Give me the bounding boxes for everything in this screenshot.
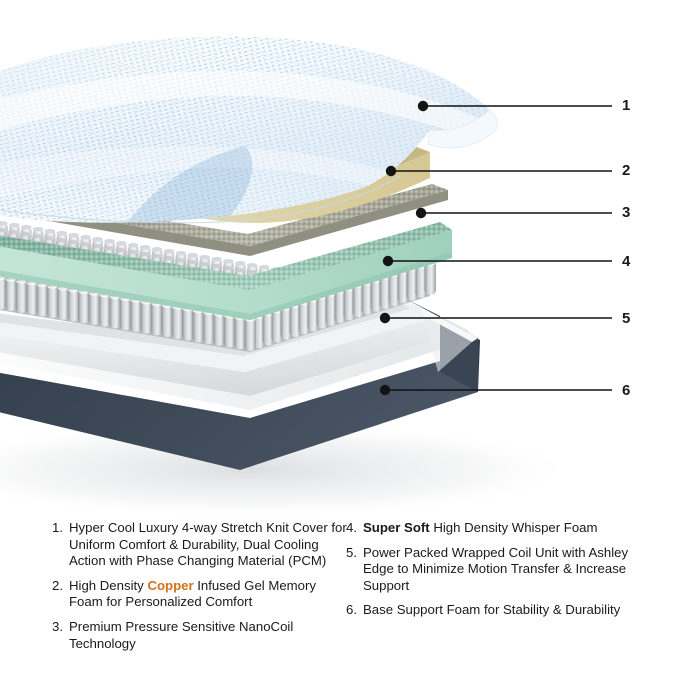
legend-item-number: 1.	[52, 520, 69, 537]
legend-item-text: Base Support Foam for Stability & Durabi…	[363, 602, 646, 619]
legend-item-number: 5.	[346, 545, 363, 562]
callout-number-6: 6	[622, 383, 630, 398]
legend-item-text: Hyper Cool Luxury 4-way Stretch Knit Cov…	[69, 520, 348, 570]
legend-text-run: Super Soft	[363, 520, 430, 535]
legend-text-run: Base Support Foam for Stability & Durabi…	[363, 602, 620, 617]
callout-number-3: 3	[622, 205, 630, 220]
mattress-layers-infographic: 123456 1.Hyper Cool Luxury 4-way Stretch…	[0, 0, 700, 700]
legend-text-run: High Density	[69, 578, 147, 593]
legend-text-run: Power Packed Wrapped Coil Unit with Ashl…	[363, 545, 628, 593]
mattress-cutaway-diagram: 123456	[0, 0, 700, 520]
legend-item-number: 6.	[346, 602, 363, 619]
legend-text-run: Hyper Cool Luxury 4-way Stretch Knit Cov…	[69, 520, 347, 568]
callout-number-1: 1	[622, 98, 630, 113]
legend-item-text: Premium Pressure Sensitive NanoCoil Tech…	[69, 619, 348, 652]
legend-item-text: Power Packed Wrapped Coil Unit with Ashl…	[363, 545, 646, 595]
callout-number-5: 5	[622, 311, 630, 326]
legend-column-right: 4.Super Soft High Density Whisper Foam5.…	[346, 520, 646, 627]
legend-text-run: High Density Whisper Foam	[430, 520, 598, 535]
legend-item-2: 2.High Density Copper Infused Gel Memory…	[52, 578, 348, 611]
legend-item-text: Super Soft High Density Whisper Foam	[363, 520, 646, 537]
callout-number-2: 2	[622, 163, 630, 178]
legend-item-5: 5.Power Packed Wrapped Coil Unit with As…	[346, 545, 646, 595]
legend-item-3: 3.Premium Pressure Sensitive NanoCoil Te…	[52, 619, 348, 652]
legend-item-number: 3.	[52, 619, 69, 636]
legend-item-number: 2.	[52, 578, 69, 595]
callout-number-4: 4	[622, 254, 630, 269]
legend-item-4: 4.Super Soft High Density Whisper Foam	[346, 520, 646, 537]
legend-item-1: 1.Hyper Cool Luxury 4-way Stretch Knit C…	[52, 520, 348, 570]
legend-column-left: 1.Hyper Cool Luxury 4-way Stretch Knit C…	[52, 520, 348, 660]
legend-item-text: High Density Copper Infused Gel Memory F…	[69, 578, 348, 611]
legend: 1.Hyper Cool Luxury 4-way Stretch Knit C…	[0, 520, 700, 700]
legend-text-run: Premium Pressure Sensitive NanoCoil Tech…	[69, 619, 293, 651]
legend-item-6: 6.Base Support Foam for Stability & Dura…	[346, 602, 646, 619]
legend-item-number: 4.	[346, 520, 363, 537]
copper-highlight: Copper	[147, 578, 193, 593]
